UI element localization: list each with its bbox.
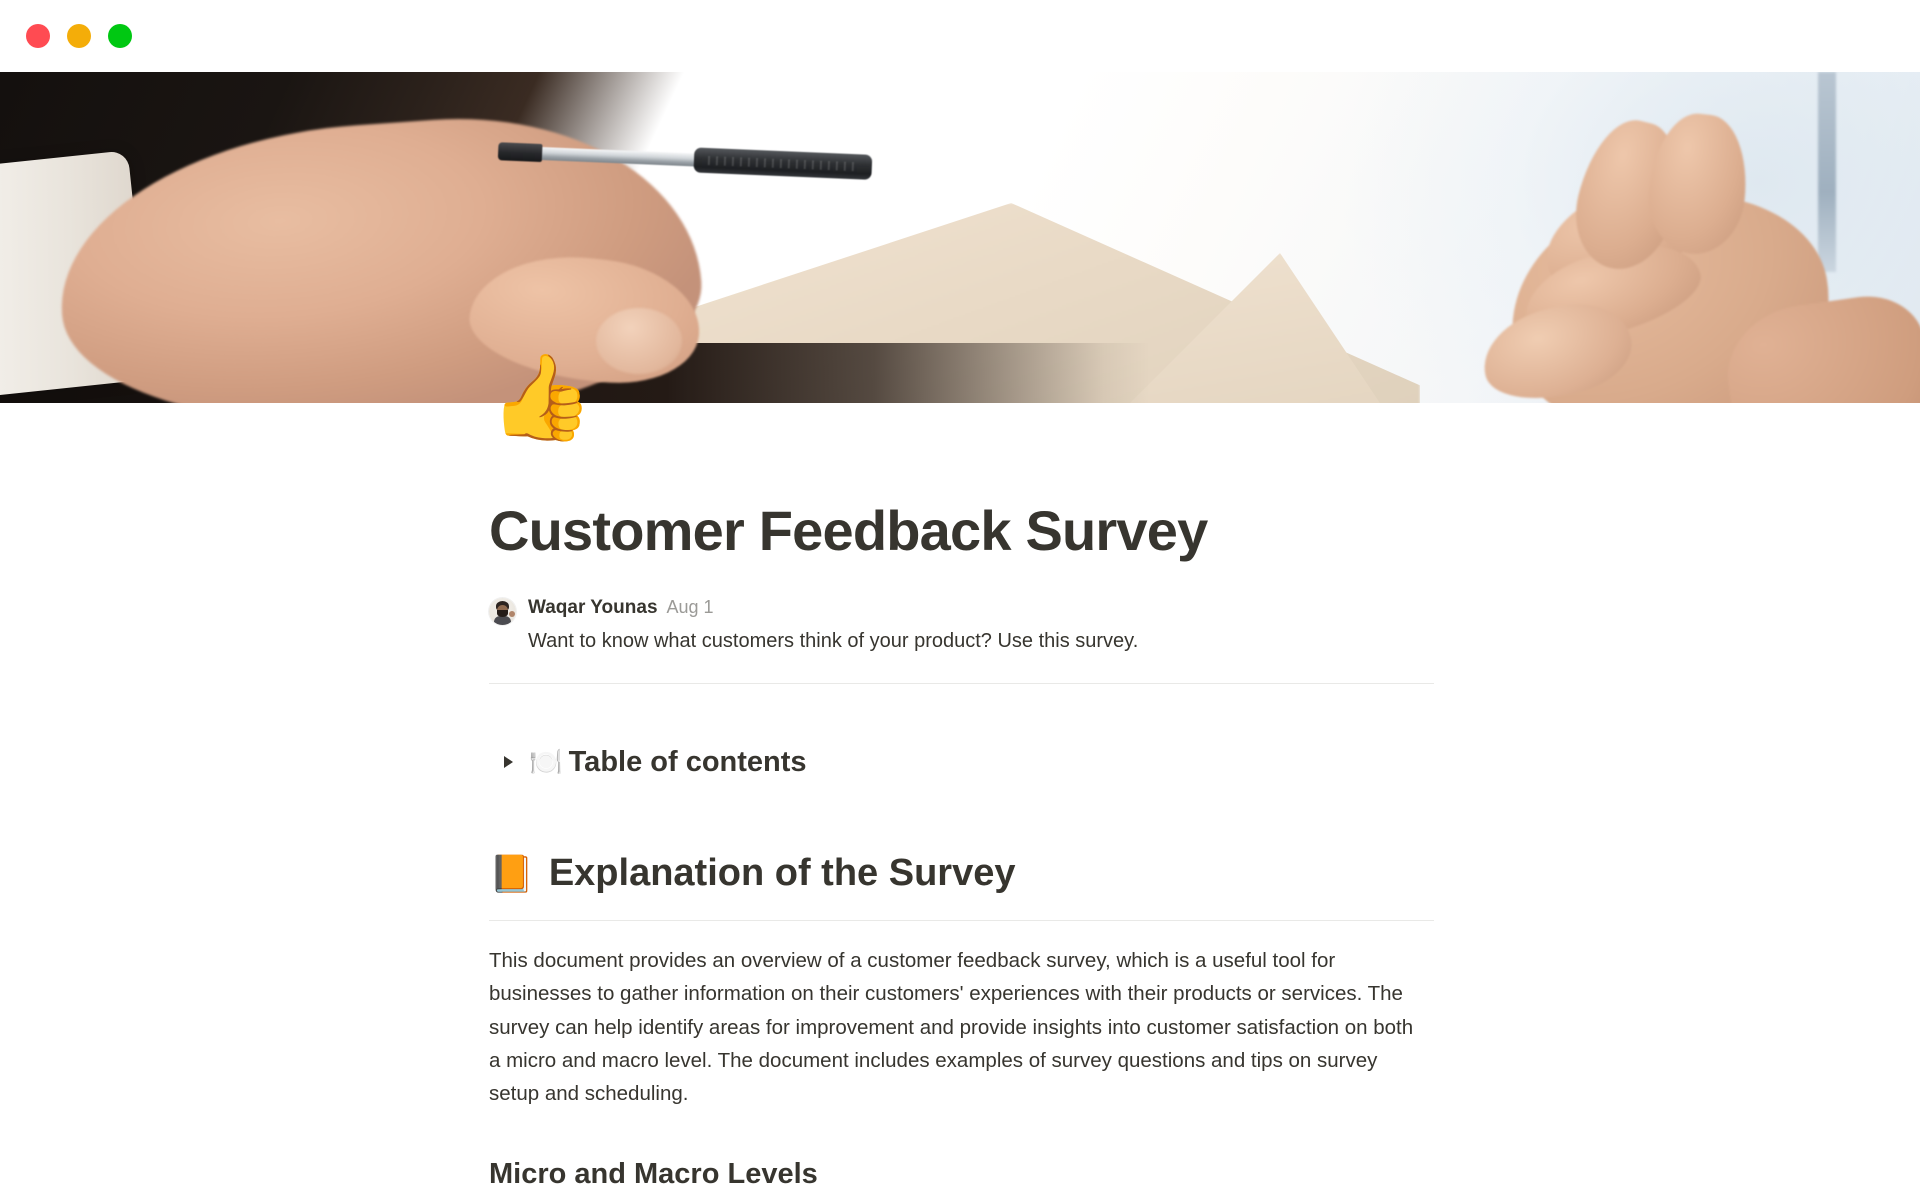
section-divider (489, 920, 1434, 921)
section-heading-label: Explanation of the Survey (549, 851, 1016, 897)
pen-tip-shape (498, 142, 543, 162)
byline: Waqar Younas Aug 1 Want to know what cus… (489, 596, 1434, 657)
byline-meta-row: Waqar Younas Aug 1 (528, 596, 1434, 620)
clasped-hands-shape (1430, 112, 1860, 403)
avatar-hand-shape (509, 611, 515, 617)
section-heading[interactable]: 📙 Explanation of the Survey (489, 851, 1434, 897)
minimize-window-button[interactable] (67, 24, 91, 48)
table-of-contents-toggle[interactable]: 🍽️ Table of contents (489, 744, 1434, 780)
subsection-heading[interactable]: Micro and Macro Levels (489, 1156, 1434, 1192)
post-date: Aug 1 (667, 596, 714, 619)
left-thumb-shape (596, 308, 682, 374)
page-description[interactable]: Want to know what customers think of you… (528, 627, 1434, 656)
window-titlebar (0, 0, 1920, 72)
section-paragraph[interactable]: This document provides an overview of a … (489, 944, 1429, 1110)
author-name[interactable]: Waqar Younas (528, 596, 658, 620)
app-window: 👍 Customer Feedback Survey Waqar Younas … (0, 0, 1920, 1200)
avatar[interactable] (489, 598, 516, 625)
table-of-contents-label: Table of contents (569, 744, 807, 780)
avatar-beard-shape (497, 610, 508, 617)
byline-text: Waqar Younas Aug 1 Want to know what cus… (528, 596, 1434, 657)
page-title[interactable]: Customer Feedback Survey (489, 500, 1434, 562)
window-controls (26, 24, 132, 48)
chevron-right-icon[interactable] (499, 753, 517, 771)
table-of-contents-title[interactable]: 🍽️ Table of contents (529, 744, 807, 780)
page-cover-image[interactable] (0, 72, 1920, 403)
maximize-window-button[interactable] (108, 24, 132, 48)
avatar-body-shape (494, 616, 511, 625)
plate-with-cutlery-icon: 🍽️ (529, 746, 563, 780)
byline-divider (489, 683, 1434, 684)
section-explanation-of-the-survey: 📙 Explanation of the Survey This documen… (489, 851, 1434, 1193)
page-icon-thumbs-up-icon[interactable]: 👍 (489, 355, 594, 439)
close-window-button[interactable] (26, 24, 50, 48)
orange-notebook-icon: 📙 (489, 852, 534, 895)
document-body: Customer Feedback Survey Waqar Younas Au… (0, 403, 1920, 1192)
